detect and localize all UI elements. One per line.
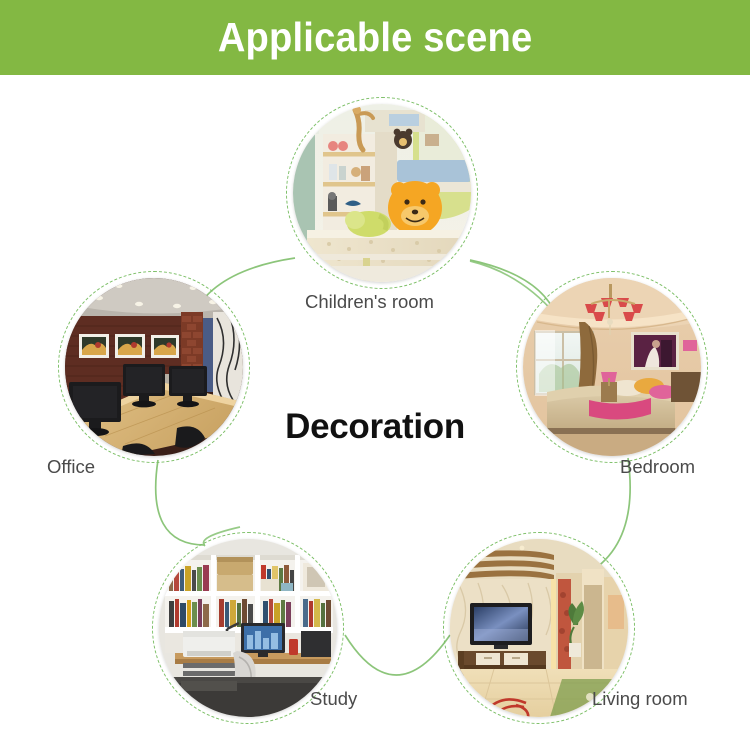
scene-node-children-room[interactable] <box>286 97 478 289</box>
page-header: Applicable scene <box>0 0 750 75</box>
page-title: Applicable scene <box>218 14 532 61</box>
scene-label-children-room: Children's room <box>305 291 434 313</box>
applicable-scene-diagram: Children's room <box>0 75 750 750</box>
diagram-center-label: Decoration <box>0 407 750 447</box>
scene-label-living-room: Living room <box>592 688 688 710</box>
children-room-photo <box>293 104 471 282</box>
scene-label-office: Office <box>47 456 95 478</box>
scene-label-bedroom: Bedroom <box>620 456 695 478</box>
scene-label-study: Study <box>310 688 357 710</box>
